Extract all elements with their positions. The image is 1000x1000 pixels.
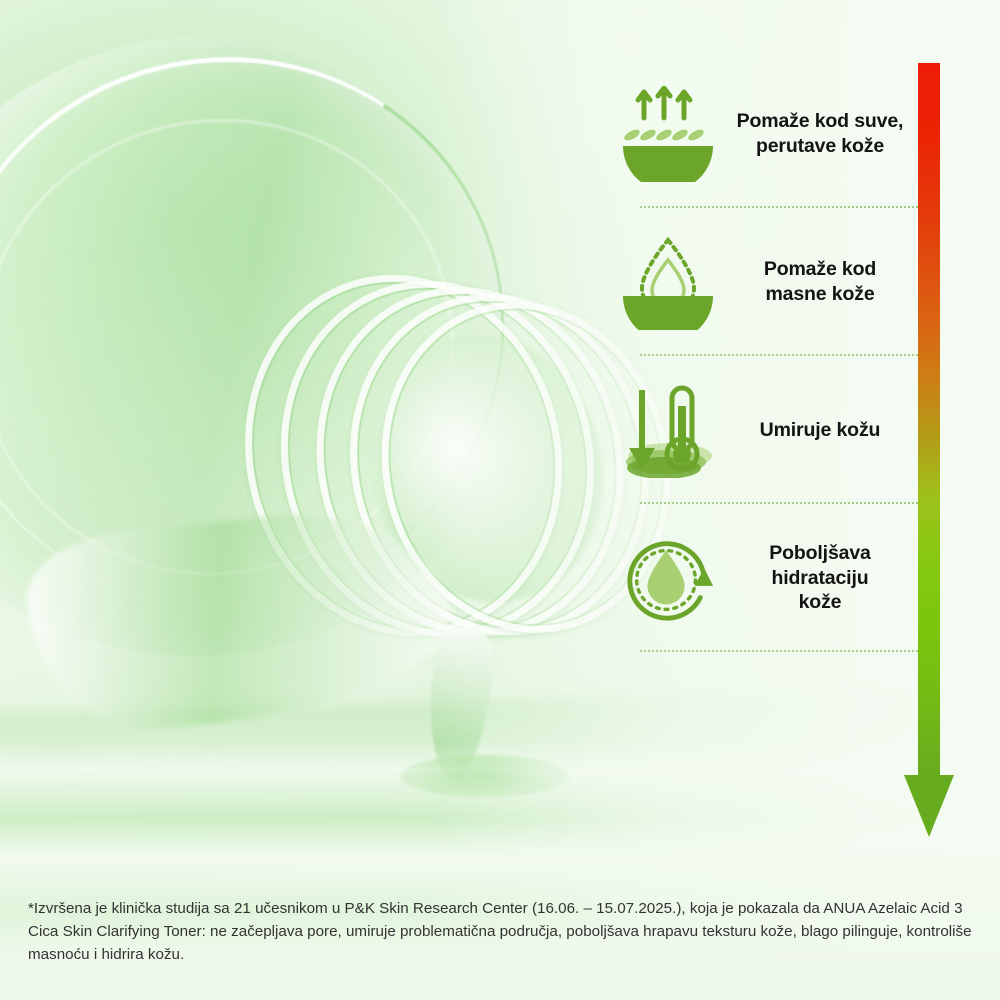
benefit-item-hydration: Poboljšava hidrataciju kože xyxy=(620,504,920,652)
gradient-bar xyxy=(918,63,940,775)
benefit-label: Pomaže kod masne kože xyxy=(726,257,920,307)
benefit-label: Umiruje kožu xyxy=(726,418,920,443)
benefit-label: Pomaže kod suve, perutave kože xyxy=(726,109,920,159)
benefit-label-line: Umiruje kožu xyxy=(726,418,914,443)
benefits-list: Pomaže kod suve, perutave kože Pomaže ko… xyxy=(620,60,920,652)
benefit-item-soothing: Umiruje kožu xyxy=(620,356,920,504)
benefit-label-line: Pomaže kod suve, xyxy=(726,109,914,134)
benefit-label-line: kože xyxy=(726,590,914,615)
benefit-label-line: hidrataciju xyxy=(726,566,914,591)
arrow-head-icon xyxy=(904,775,954,837)
droplet-in-circular-arrow-icon xyxy=(620,526,716,630)
benefit-label-line: perutave kože xyxy=(726,134,914,159)
benefit-label-line: Poboljšava xyxy=(726,541,914,566)
severity-gradient-arrow xyxy=(918,63,940,775)
clinical-study-footnote: *Izvršena je klinička studija sa 21 učes… xyxy=(28,897,972,966)
thermometer-down-arrow-icon xyxy=(620,378,716,482)
benefit-item-oily-skin: Pomaže kod masne kože xyxy=(620,208,920,356)
benefit-label-line: Pomaže kod xyxy=(726,257,914,282)
oil-droplet-over-bowl-icon xyxy=(620,230,716,334)
benefit-label-line: masne kože xyxy=(726,282,914,307)
benefit-label: Poboljšava hidrataciju kože xyxy=(726,541,920,616)
bowl-with-flakes-rising-icon xyxy=(620,82,716,186)
benefit-item-dry-skin: Pomaže kod suve, perutave kože xyxy=(620,60,920,208)
benefit-divider xyxy=(640,650,922,652)
promo-graphic: Pomaže kod suve, perutave kože Pomaže ko… xyxy=(0,0,1000,1000)
